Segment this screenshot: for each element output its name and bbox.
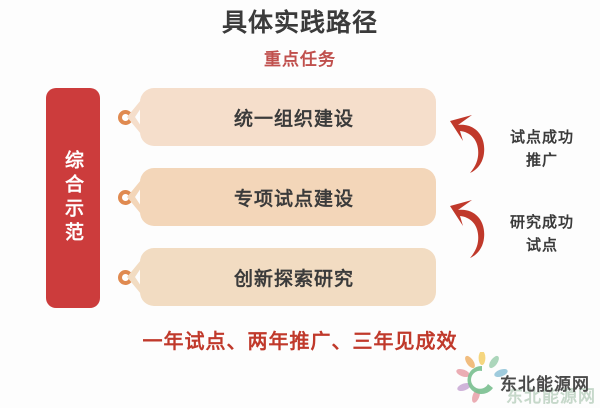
arrow-label-1-line2: 推广 — [486, 149, 598, 172]
arrow-label-2-line1: 研究成功 — [486, 211, 598, 234]
slogan-text: 一年试点、两年推广、三年见成效 — [0, 327, 600, 355]
infographic-canvas: 具体实践路径 重点任务 综合示范 统一组织建设 专项试点建设 创新 — [0, 0, 600, 408]
chevron-left-icon — [125, 100, 141, 134]
task-card-2[interactable]: 专项试点建设 — [140, 168, 436, 226]
pillar-comprehensive-demo: 综合示范 — [46, 88, 100, 308]
watermark-text: 东北能源网 — [500, 370, 590, 395]
task-card-3-label: 创新探索研究 — [140, 248, 436, 306]
page-subtitle: 重点任务 — [0, 49, 600, 71]
arrow-label-1-line1: 试点成功 — [486, 126, 598, 149]
task-card-1-label: 统一组织建设 — [140, 88, 436, 146]
chevron-left-icon — [125, 180, 141, 214]
arrow-label-2-line2: 试点 — [486, 234, 598, 257]
task-card-2-label: 专项试点建设 — [140, 168, 436, 226]
task-card-1[interactable]: 统一组织建设 — [140, 88, 436, 146]
watermark: 东北能源网 东北能源网 — [452, 352, 600, 404]
task-card-3[interactable]: 创新探索研究 — [140, 248, 436, 306]
arrow-label-2: 研究成功 试点 — [486, 211, 598, 257]
pillar-label: 综合示范 — [46, 88, 100, 308]
chevron-left-icon — [125, 260, 141, 294]
arrow-label-1: 试点成功 推广 — [486, 126, 598, 172]
page-title: 具体实践路径 — [0, 8, 600, 38]
